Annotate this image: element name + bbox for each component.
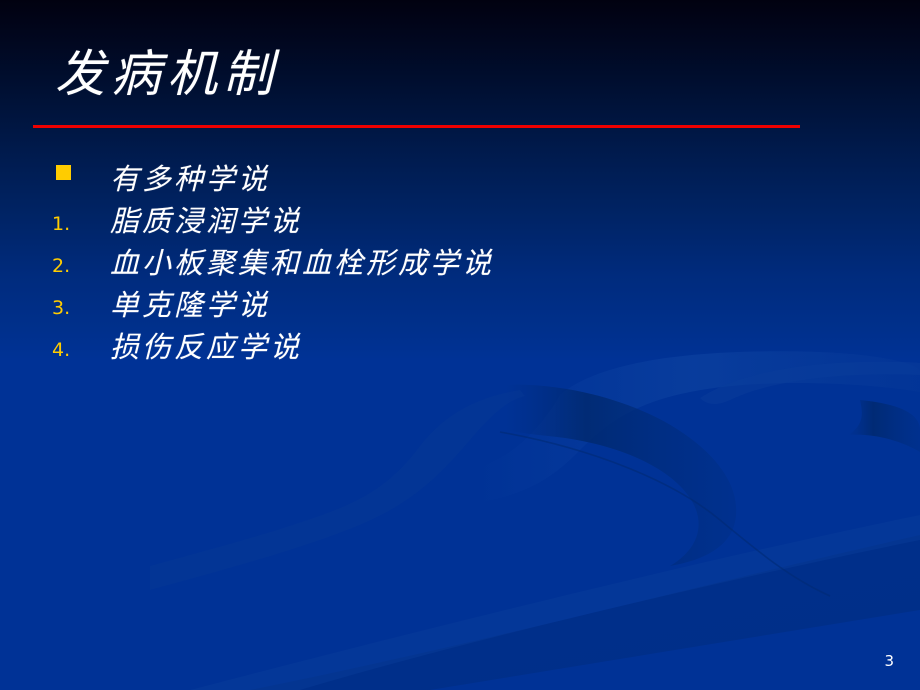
ribbon-hairline [500,432,830,596]
list-number-marker: 1. [50,203,110,241]
list-number: 2. [50,249,70,283]
ribbon-band-2 [505,385,736,566]
list-item-text: 单克隆学说 [110,287,270,323]
list-item[interactable]: 有多种学说 [50,161,870,203]
list-item-text: 损伤反应学说 [110,329,302,365]
list-number-marker: 4. [50,329,110,367]
ribbon-band-1 [470,351,920,505]
presentation-slide: 发病机制 有多种学说 1. 脂质浸润学说 2. 血小板聚集和血栓形成学说 3. [0,0,920,690]
bullet-list: 有多种学说 1. 脂质浸润学说 2. 血小板聚集和血栓形成学说 3. 单克隆学说… [50,161,870,371]
ribbon-band-4 [150,390,525,590]
list-number-marker: 2. [50,245,110,283]
list-number: 4. [50,333,70,367]
page-title: 发病机制 [55,47,279,102]
list-item[interactable]: 3. 单克隆学说 [50,287,870,329]
list-item-text: 血小板聚集和血栓形成学说 [110,245,494,281]
list-number: 1. [50,207,70,241]
slide-number: 3 [884,652,894,670]
list-item[interactable]: 2. 血小板聚集和血栓形成学说 [50,245,870,287]
ribbon-sash [250,535,920,690]
list-item-text: 脂质浸润学说 [110,203,302,239]
list-item[interactable]: 4. 损伤反应学说 [50,329,870,371]
list-number-marker: 3. [50,287,110,325]
title-underline-rule [33,125,800,128]
list-number: 3. [50,291,70,325]
ribbon-sash-highlight [190,515,920,690]
ribbon-band-3 [848,400,920,452]
square-bullet-icon [56,165,71,180]
list-item-text: 有多种学说 [110,161,270,197]
list-item[interactable]: 1. 脂质浸润学说 [50,203,870,245]
square-bullet-marker [50,161,110,180]
